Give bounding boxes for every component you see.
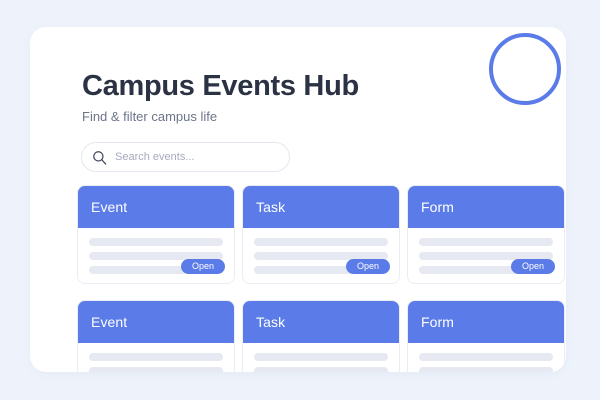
content-card[interactable]: Form Open [407, 300, 565, 372]
page-subtitle: Find & filter campus life [82, 109, 502, 125]
card-title: Task [256, 314, 285, 330]
skeleton-line [254, 367, 388, 372]
skeleton-line [419, 353, 553, 361]
card-body: Open [243, 228, 399, 283]
skeleton-line [89, 367, 223, 372]
card-body: Open [78, 343, 234, 372]
skeleton-line [89, 238, 223, 246]
card-grid: Event Open Task Open [77, 185, 549, 372]
card-body: Open [78, 228, 234, 283]
content-card[interactable]: Form Open [407, 185, 565, 284]
content-card[interactable]: Task Open [242, 300, 400, 372]
card-title: Form [421, 314, 454, 330]
skeleton-line [254, 353, 388, 361]
open-button[interactable]: Open [181, 259, 225, 274]
content-card[interactable]: Event Open [77, 185, 235, 284]
page-header: Campus Events Hub Find & filter campus l… [82, 69, 502, 125]
card-title: Task [256, 199, 285, 215]
search-box[interactable] [81, 142, 290, 172]
card-title: Event [91, 199, 127, 215]
card-title: Form [421, 199, 454, 215]
skeleton-line [419, 238, 553, 246]
skeleton-line [89, 353, 223, 361]
app-frame: Campus Events Hub Find & filter campus l… [0, 0, 600, 400]
content-card[interactable]: Event Open [77, 300, 235, 372]
content-card[interactable]: Task Open [242, 185, 400, 284]
card-body: Open [408, 228, 564, 283]
card-header: Form [408, 301, 564, 343]
open-button[interactable]: Open [511, 259, 555, 274]
skeleton-line [419, 367, 553, 372]
card-header: Task [243, 186, 399, 228]
search-icon [92, 150, 107, 165]
open-button[interactable]: Open [346, 259, 390, 274]
page-title: Campus Events Hub [82, 69, 502, 103]
search-input[interactable] [115, 143, 279, 171]
skeleton-line [254, 238, 388, 246]
card-header: Task [243, 301, 399, 343]
card-header: Event [78, 186, 234, 228]
card-header: Event [78, 301, 234, 343]
main-panel: Campus Events Hub Find & filter campus l… [30, 27, 566, 372]
card-title: Event [91, 314, 127, 330]
card-body: Open [243, 343, 399, 372]
circle-outline-icon [489, 33, 561, 105]
card-header: Form [408, 186, 564, 228]
card-body: Open [408, 343, 564, 372]
